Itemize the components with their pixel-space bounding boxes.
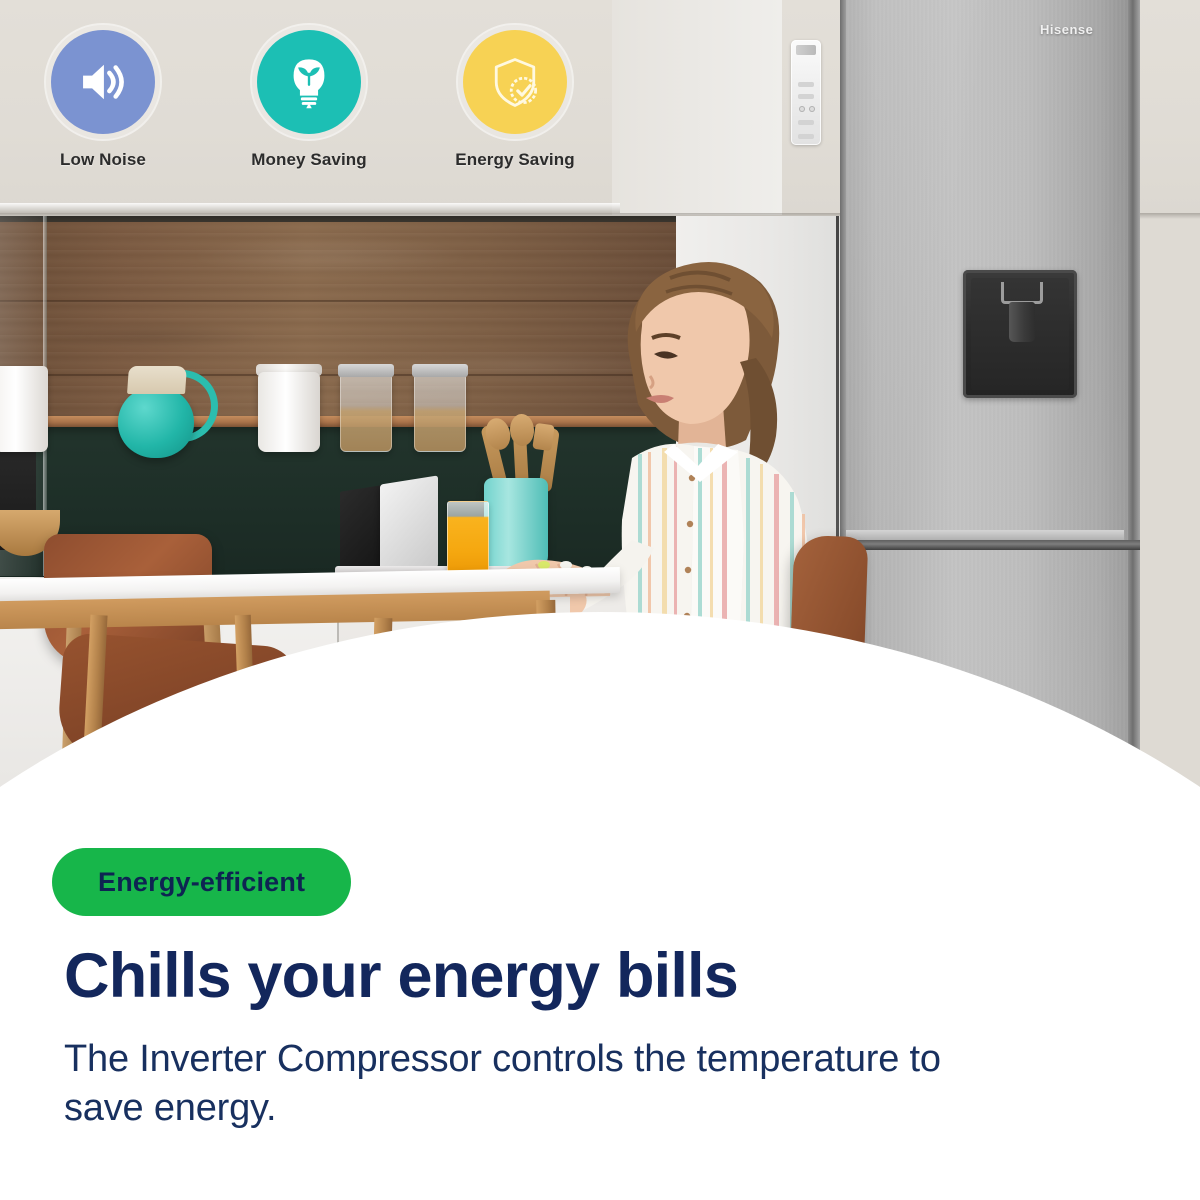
feature-icon-row: Low Noise Money Saving xyxy=(0,30,620,205)
fridge-control-panel xyxy=(791,40,821,145)
laptop-lid xyxy=(380,475,438,576)
glass-jar-nuts xyxy=(340,374,392,452)
glass-jar-nuts xyxy=(414,374,466,452)
white-jar xyxy=(258,372,320,452)
upper-wall-right xyxy=(612,0,782,215)
control-panel-indicator xyxy=(809,106,815,112)
teal-pitcher xyxy=(118,386,194,458)
lightbulb-leaf-icon xyxy=(280,53,338,111)
money-saving-icon-circle xyxy=(257,30,361,134)
feature-low-noise: Low Noise xyxy=(0,30,206,170)
fridge-right-edge xyxy=(1128,0,1140,800)
feature-money-saving: Money Saving xyxy=(206,30,412,170)
floating-shelf xyxy=(0,416,660,427)
dispenser-recess xyxy=(971,278,1069,390)
feature-label: Energy Saving xyxy=(455,150,574,170)
glass-jar-lid xyxy=(338,364,394,377)
hisense-brand-logo: Hisense xyxy=(1040,22,1093,37)
shield-check-icon xyxy=(485,52,545,112)
dispenser-lever xyxy=(1001,282,1043,304)
energy-saving-icon-circle xyxy=(463,30,567,134)
white-canister xyxy=(0,366,48,452)
feature-energy-saving: Energy Saving xyxy=(412,30,618,170)
water-dispenser xyxy=(963,270,1077,398)
wooden-spatula-head xyxy=(532,423,554,451)
control-panel-button xyxy=(798,82,814,87)
low-noise-icon-circle xyxy=(51,30,155,134)
control-panel-indicator xyxy=(799,106,805,112)
backsplash-top-edge xyxy=(0,216,680,222)
control-panel-display xyxy=(796,45,816,55)
control-panel-button xyxy=(798,120,814,125)
glass-jar-lid xyxy=(412,364,468,377)
marketing-banner: Hisense xyxy=(0,0,1200,1200)
feature-label: Money Saving xyxy=(251,150,367,170)
speaker-sound-icon xyxy=(74,53,132,111)
page-subtitle: The Inverter Compressor controls the tem… xyxy=(64,1035,964,1132)
dispenser-nozzle xyxy=(1009,302,1035,342)
text-content-block: Energy-efficient Chills your energy bill… xyxy=(0,800,1200,1200)
page-title: Chills your energy bills xyxy=(64,943,738,1009)
feature-label: Low Noise xyxy=(60,150,146,170)
product-lifestyle-photo: Hisense xyxy=(0,0,1200,800)
control-panel-button xyxy=(798,94,814,99)
pitcher-neck xyxy=(127,366,187,394)
energy-efficient-badge: Energy-efficient xyxy=(52,848,351,916)
control-panel-button xyxy=(798,134,814,139)
